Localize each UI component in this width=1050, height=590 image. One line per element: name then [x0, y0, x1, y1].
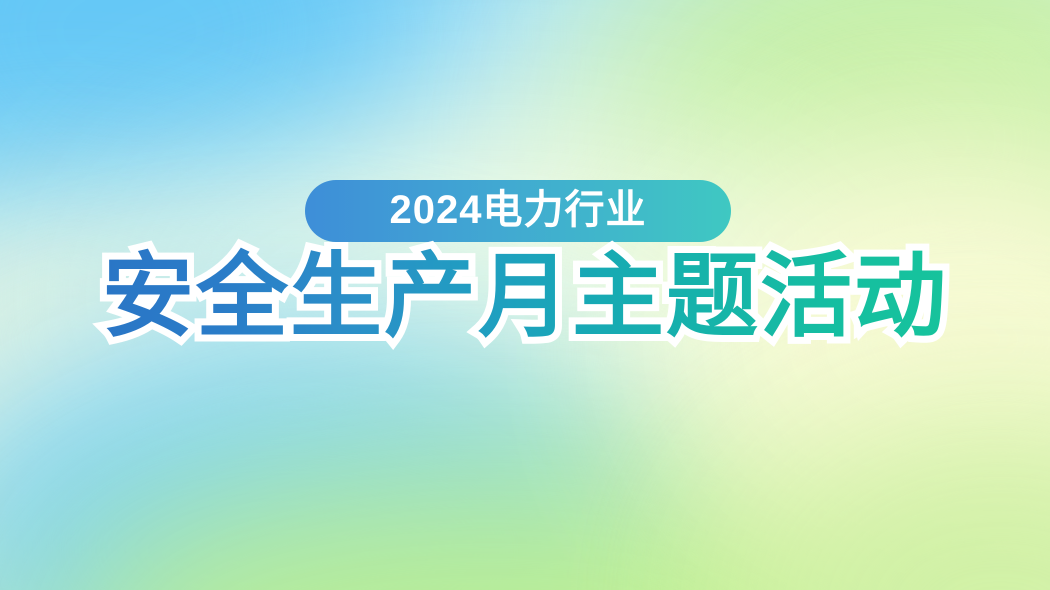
poster-canvas: 2024电力行业 安全生产月主题活动 安全生产月主题活动 — [0, 0, 1050, 590]
poster-headline: 安全生产月主题活动 安全生产月主题活动 — [102, 249, 948, 346]
year-industry-badge-label: 2024电力行业 — [390, 190, 647, 230]
poster-content: 2024电力行业 安全生产月主题活动 安全生产月主题活动 — [0, 0, 1050, 590]
headline-container: 安全生产月主题活动 安全生产月主题活动 — [0, 243, 1050, 351]
year-industry-badge: 2024电力行业 — [305, 180, 731, 242]
headline-fill-layer: 安全生产月主题活动 — [102, 246, 948, 348]
